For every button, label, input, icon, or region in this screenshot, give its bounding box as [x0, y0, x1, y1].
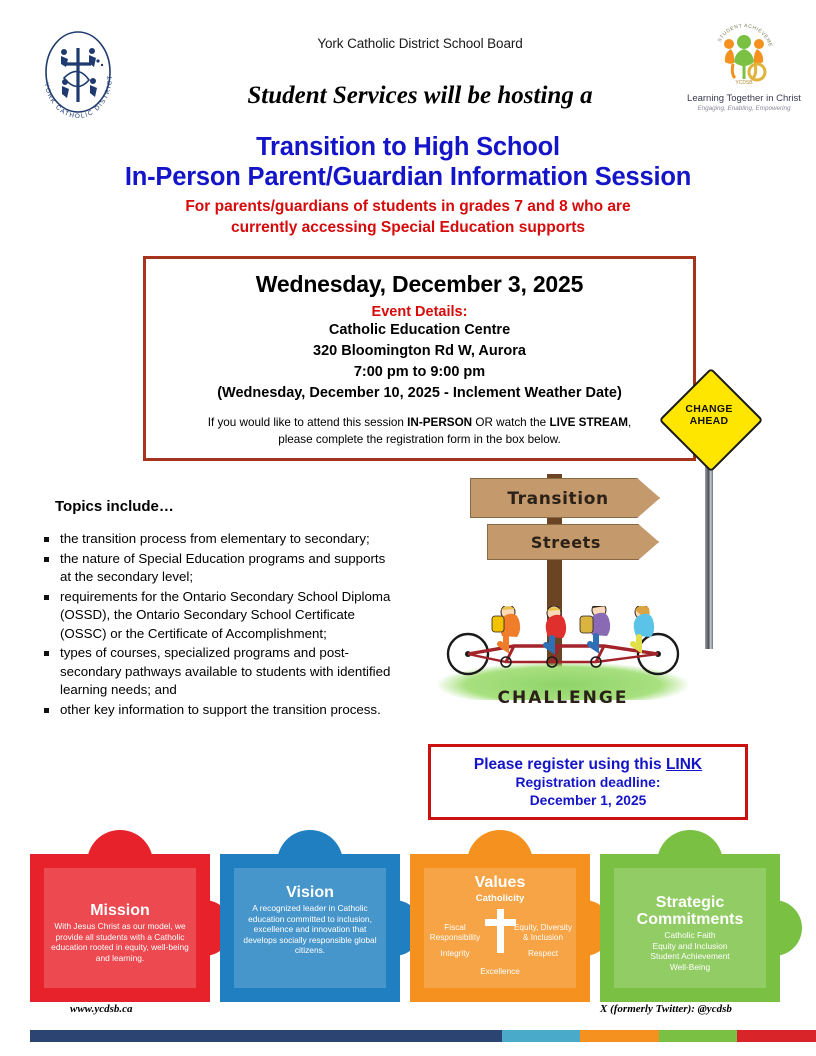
arrow-sign-streets: Streets [487, 524, 659, 560]
title-line-2: In-Person Parent/Guardian Information Se… [58, 162, 758, 192]
topics-heading: Topics include… [55, 498, 174, 515]
sign-text-line-2: AHEAD [672, 415, 746, 427]
list-item: the nature of Special Education programs… [36, 550, 396, 587]
tandem-bicycle-riders [444, 606, 682, 676]
sign-text-line-1: CHANGE [672, 403, 746, 415]
puzzle-inner: Vision A recognized leader in Catholic e… [234, 868, 386, 988]
note-bold-live-stream: LIVE STREAM [549, 416, 628, 429]
mission-vision-values-graphic: Mission With Jesus Christ as our model, … [30, 826, 786, 1006]
registration-box[interactable]: Please register using this LINK Registra… [428, 744, 748, 820]
transition-streets-illustration: Transition Streets [432, 466, 694, 718]
puzzle-title: Mission [44, 902, 196, 919]
puzzle-title-line-1: Strategic [614, 894, 766, 911]
note-part-1: If you would like to attend this session [208, 416, 407, 429]
svg-text:YCDSB: YCDSB [735, 80, 753, 86]
arrow-sign-transition: Transition [470, 478, 660, 518]
values-excellence: Excellence [424, 967, 576, 976]
topics-list: the transition process from elementary t… [36, 530, 396, 720]
ycdsb-crest-logo: YORK CATHOLIC DISTRICT SCHOOL BOARD [30, 24, 126, 128]
page-header: YORK CATHOLIC DISTRICT SCHOOL BOARD York… [0, 0, 816, 130]
event-details-label: Event Details: [146, 304, 693, 320]
values-equity-diversity-inclusion: Equity, Diversity & Inclusion [512, 923, 574, 943]
values-catholicity: Catholicity [424, 893, 576, 904]
learning-subtagline: Engaging, Enabling, Empowering [686, 105, 802, 112]
register-instruction-text: Please register using this [474, 756, 666, 773]
learning-tagline: Learning Together in Christ [686, 93, 802, 104]
puzzle-title-line-2: Commitments [614, 911, 766, 928]
puzzle-inner: Mission With Jesus Christ as our model, … [44, 868, 196, 988]
list-item: the transition process from elementary t… [36, 530, 396, 549]
puzzle-piece-mission: Mission With Jesus Christ as our model, … [30, 854, 210, 1002]
board-name: York Catholic District School Board [200, 36, 640, 51]
footer-social-handle[interactable]: X (formerly Twitter): @ycdsb [600, 1003, 732, 1015]
event-time: 7:00 pm to 9:00 pm [146, 362, 693, 383]
values-fiscal-responsibility: Fiscal Responsibility [426, 923, 484, 943]
sign-post [705, 449, 713, 649]
note-part-2: OR watch the [472, 416, 549, 429]
footer-bar-segment-lightblue [502, 1030, 581, 1042]
event-inclement-date: (Wednesday, December 10, 2025 - Inclemen… [146, 383, 693, 404]
subtitle-line-2: currently accessing Special Education su… [58, 217, 758, 238]
challenge-caption: CHALLENGE [432, 688, 694, 708]
sign-text: CHANGE AHEAD [672, 403, 746, 427]
event-details-box: Wednesday, December 3, 2025 Event Detail… [143, 256, 696, 461]
values-grid: Catholicity Fiscal Responsibility Equity… [424, 893, 576, 977]
learning-together-logo: STUDENT ACHIEVEMENT YCDSB Learning Toget… [686, 22, 802, 112]
puzzle-title: Vision [234, 884, 386, 901]
list-item: types of courses, specialized programs a… [36, 644, 396, 700]
note-line-2: please complete the registration form in… [168, 431, 671, 448]
puzzle-inner: Strategic Commitments Catholic Faith Equ… [614, 868, 766, 988]
values-integrity: Integrity [428, 949, 482, 958]
puzzle-inner: Values Catholicity Fiscal Responsibility… [424, 868, 576, 988]
event-registration-note: If you would like to attend this session… [146, 414, 693, 448]
register-instruction: Please register using this LINK [431, 756, 745, 774]
puzzle-piece-strategic-commitments: Strategic Commitments Catholic Faith Equ… [600, 854, 780, 1002]
footer-bar-segment-navy [30, 1030, 502, 1042]
registration-deadline-label: Registration deadline: [431, 774, 745, 792]
title-line-1: Transition to High School [58, 132, 758, 162]
puzzle-piece-values: Values Catholicity Fiscal Responsibility… [410, 854, 590, 1002]
note-part-3: , [628, 416, 631, 429]
puzzle-title: Values [424, 874, 576, 891]
footer-website[interactable]: www.ycdsb.ca [70, 1003, 133, 1015]
puzzle-text: Catholic Faith Equity and Inclusion Stud… [614, 928, 766, 972]
puzzle-piece-vision: Vision A recognized leader in Catholic e… [220, 854, 400, 1002]
event-venue: Catholic Education Centre [146, 320, 693, 341]
note-bold-in-person: IN-PERSON [407, 416, 472, 429]
learning-together-mark: STUDENT ACHIEVEMENT YCDSB [709, 22, 779, 86]
event-address: 320 Bloomington Rd W, Aurora [146, 341, 693, 362]
puzzle-text: With Jesus Christ as our model, we provi… [44, 919, 196, 963]
registration-link[interactable]: LINK [666, 756, 702, 773]
registration-deadline-date: December 1, 2025 [431, 792, 745, 810]
footer-bar-segment-orange [580, 1030, 659, 1042]
list-item: other key information to support the tra… [36, 701, 396, 720]
values-respect: Respect [516, 949, 570, 958]
footer-bar-segment-red [737, 1030, 816, 1042]
cross-icon [497, 909, 504, 953]
subtitle-line-1: For parents/guardians of students in gra… [58, 196, 758, 217]
footer-bar-segment-green [659, 1030, 738, 1042]
footer-color-bar [30, 1030, 816, 1042]
page-title: Transition to High School In-Person Pare… [58, 132, 758, 238]
hosting-line: Student Services will be hosting a [150, 82, 690, 110]
list-item: requirements for the Ontario Secondary S… [36, 588, 396, 644]
puzzle-text: A recognized leader in Catholic educatio… [234, 901, 386, 956]
event-date: Wednesday, December 3, 2025 [146, 271, 693, 298]
subtitle: For parents/guardians of students in gra… [58, 196, 758, 238]
